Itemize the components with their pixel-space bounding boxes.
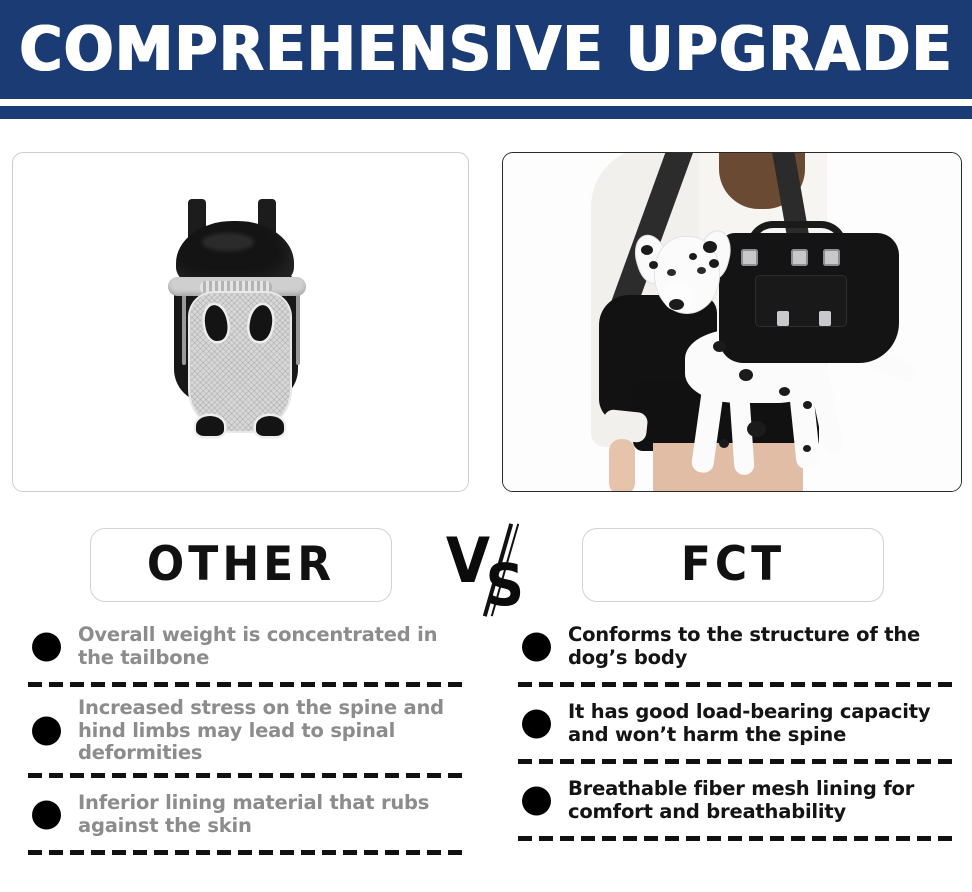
dog-spot [803, 445, 811, 452]
bullet-dot-icon [522, 710, 551, 739]
model-arm [609, 439, 635, 492]
dashed-divider [28, 773, 464, 778]
other-product-photo-card [12, 152, 469, 492]
list-item: Conforms to the structure of the dog’s b… [514, 620, 956, 674]
comparison-labels-row: OTHER V S FCT [0, 528, 972, 606]
other-label-text: OTHER [147, 541, 335, 589]
list-item: Increased stress on the spine and hind l… [24, 697, 466, 765]
model-cuff [602, 409, 649, 443]
bullet-dot-icon [522, 633, 551, 662]
fct-feature-column: Conforms to the structure of the dog’s b… [514, 620, 956, 851]
fct-pocket-buckle-right [819, 311, 831, 326]
dog-spot [649, 261, 658, 269]
other-label-box: OTHER [90, 528, 392, 602]
carrier-mesh-panel [188, 291, 292, 433]
fct-product-photo [503, 153, 961, 491]
fct-buckle-3 [823, 249, 840, 266]
dog-spot [739, 369, 753, 381]
list-item: Inferior lining material that rubs again… [24, 788, 466, 842]
header-accent-stripe [0, 106, 972, 119]
dog-spot [747, 421, 766, 437]
dashed-divider [518, 836, 954, 841]
carrier-rear-leg-hole-left [196, 416, 224, 436]
dashed-divider [518, 682, 954, 687]
carrier-zipper-left [182, 291, 186, 365]
model-with-dog-scene [503, 153, 961, 491]
dog-spot [803, 401, 812, 409]
list-item-label: Overall weight is concentrated in the ta… [78, 624, 466, 669]
list-item: Overall weight is concentrated in the ta… [24, 620, 466, 674]
list-item-label: Inferior lining material that rubs again… [78, 792, 466, 837]
fct-label-box: FCT [582, 528, 884, 602]
bullet-dot-icon [32, 800, 61, 829]
dashed-divider [518, 759, 954, 764]
dog-spot [689, 253, 697, 260]
bullet-dot-icon [522, 787, 551, 816]
dog-spot [779, 387, 790, 396]
carrier-front-leg-hole-right [247, 304, 274, 343]
bullet-dot-icon [32, 716, 61, 745]
page-title: COMPREHENSIVE UPGRADE [19, 19, 953, 81]
dog-spot [719, 439, 729, 448]
fct-pocket-buckle-left [777, 311, 789, 326]
dashed-divider [28, 682, 464, 687]
dog-spot [641, 245, 653, 255]
list-item-label: Breathable fiber mesh lining for comfort… [568, 778, 956, 823]
dog-eye-left [667, 269, 676, 276]
feature-comparison-columns: Overall weight is concentrated in the ta… [0, 620, 972, 892]
fct-product-photo-card [502, 152, 962, 492]
fct-buckle-1 [741, 249, 758, 266]
versus-logo: V S [440, 520, 550, 620]
list-item: Breathable fiber mesh lining for comfort… [514, 774, 956, 828]
list-item-label: Increased stress on the spine and hind l… [78, 697, 466, 765]
mesh-pet-carrier-illustration [174, 199, 308, 443]
list-item: It has good load-bearing capacity and wo… [514, 697, 956, 751]
dog-nose [669, 299, 684, 310]
dog-spot [709, 259, 719, 268]
header-gap [0, 99, 972, 106]
fct-carrier-pocket [755, 275, 847, 327]
versus-v-letter: V [446, 530, 490, 592]
header-banner: COMPREHENSIVE UPGRADE [0, 0, 972, 99]
dog-eye-right [697, 267, 706, 274]
other-feature-column: Overall weight is concentrated in the ta… [24, 620, 466, 865]
carrier-hood-highlight [202, 233, 254, 251]
list-item-label: Conforms to the structure of the dog’s b… [568, 624, 956, 669]
carrier-zipper-right [296, 291, 300, 365]
versus-s-letter: S [486, 556, 524, 614]
fct-label-text: FCT [681, 541, 785, 589]
model-leg [653, 443, 803, 492]
product-photos-row [0, 152, 972, 492]
dashed-divider [28, 850, 464, 855]
list-item-label: It has good load-bearing capacity and wo… [568, 701, 956, 746]
other-product-photo [13, 153, 468, 491]
fct-buckle-2 [791, 249, 808, 266]
dog-spot [713, 341, 726, 352]
carrier-front-leg-hole-left [202, 304, 229, 343]
bullet-dot-icon [32, 633, 61, 662]
carrier-rear-leg-hole-right [256, 416, 284, 436]
dog-spot [703, 241, 717, 253]
